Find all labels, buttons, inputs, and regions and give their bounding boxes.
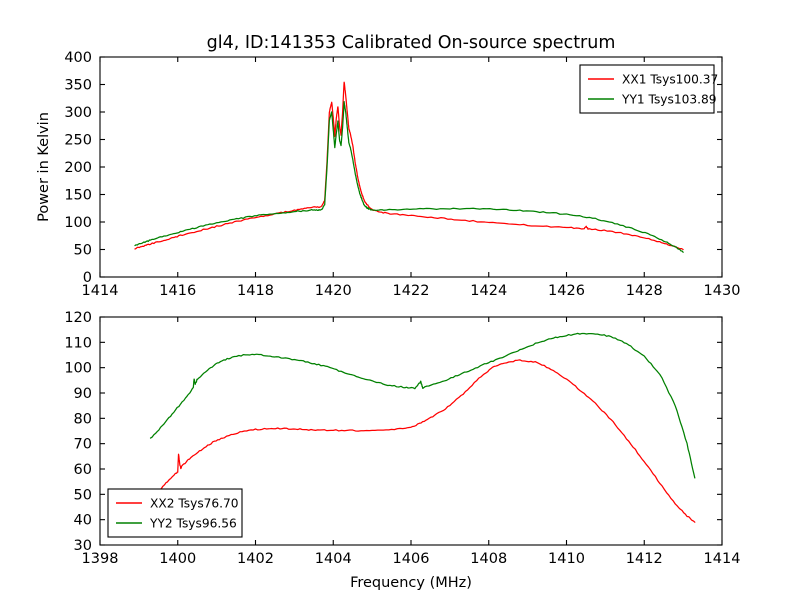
legend-label: YY1 Tsys103.89 — [621, 93, 717, 107]
x-tick-label: 1410 — [548, 551, 585, 567]
y-tick-label: 110 — [64, 335, 92, 351]
x-tick-label: 1412 — [626, 551, 663, 567]
y-axis-label: Power in Kelvin — [36, 112, 52, 222]
y-tick-label: 150 — [64, 188, 92, 204]
legend: XX1 Tsys100.37YY1 Tsys103.89 — [580, 65, 718, 113]
y-tick-label: 300 — [64, 105, 92, 121]
y-tick-label: 100 — [64, 361, 92, 377]
spectrum-figure: gl4, ID:141353 Calibrated On-source spec… — [0, 0, 800, 600]
y-tick-label: 200 — [64, 160, 92, 176]
y-tick-label: 80 — [74, 411, 92, 427]
legend-label: YY2 Tsys96.56 — [149, 517, 237, 531]
x-tick-label: 1430 — [704, 283, 741, 299]
y-tick-label: 100 — [64, 215, 92, 231]
y-tick-label: 0 — [83, 270, 92, 286]
legend-label: XX1 Tsys100.37 — [622, 73, 718, 87]
x-tick-label: 1404 — [315, 551, 352, 567]
y-tick-label: 30 — [74, 538, 92, 554]
x-tick-label: 1428 — [626, 283, 663, 299]
figure-title: gl4, ID:141353 Calibrated On-source spec… — [207, 33, 616, 53]
x-tick-label: 1422 — [393, 283, 430, 299]
y-tick-label: 40 — [74, 513, 92, 529]
x-tick-label: 1420 — [315, 283, 352, 299]
y-tick-label: 50 — [74, 243, 92, 259]
y-tick-label: 60 — [74, 462, 92, 478]
top-panel: 1414141614181420142214241426142814300501… — [36, 50, 740, 299]
x-tick-label: 1408 — [470, 551, 507, 567]
legend-label: XX2 Tsys76.70 — [150, 497, 239, 511]
bottom-panel: 1398140014021404140614081410141214143040… — [64, 310, 740, 591]
y-tick-label: 120 — [64, 310, 92, 326]
y-tick-label: 70 — [74, 437, 92, 453]
x-tick-label: 1424 — [470, 283, 507, 299]
x-tick-label: 1400 — [159, 551, 196, 567]
x-tick-label: 1406 — [393, 551, 430, 567]
x-axis-label: Frequency (MHz) — [350, 575, 472, 591]
x-tick-label: 1418 — [237, 283, 274, 299]
x-tick-label: 1402 — [237, 551, 274, 567]
x-tick-label: 1426 — [548, 283, 585, 299]
y-tick-label: 400 — [64, 50, 92, 66]
x-tick-label: 1416 — [159, 283, 196, 299]
y-tick-label: 250 — [64, 133, 92, 149]
x-tick-label: 1414 — [704, 551, 741, 567]
y-tick-label: 350 — [64, 78, 92, 94]
y-tick-label: 50 — [74, 487, 92, 503]
y-tick-label: 90 — [74, 386, 92, 402]
legend: XX2 Tsys76.70YY2 Tsys96.56 — [108, 489, 242, 537]
plot-canvas: gl4, ID:141353 Calibrated On-source spec… — [0, 0, 800, 600]
